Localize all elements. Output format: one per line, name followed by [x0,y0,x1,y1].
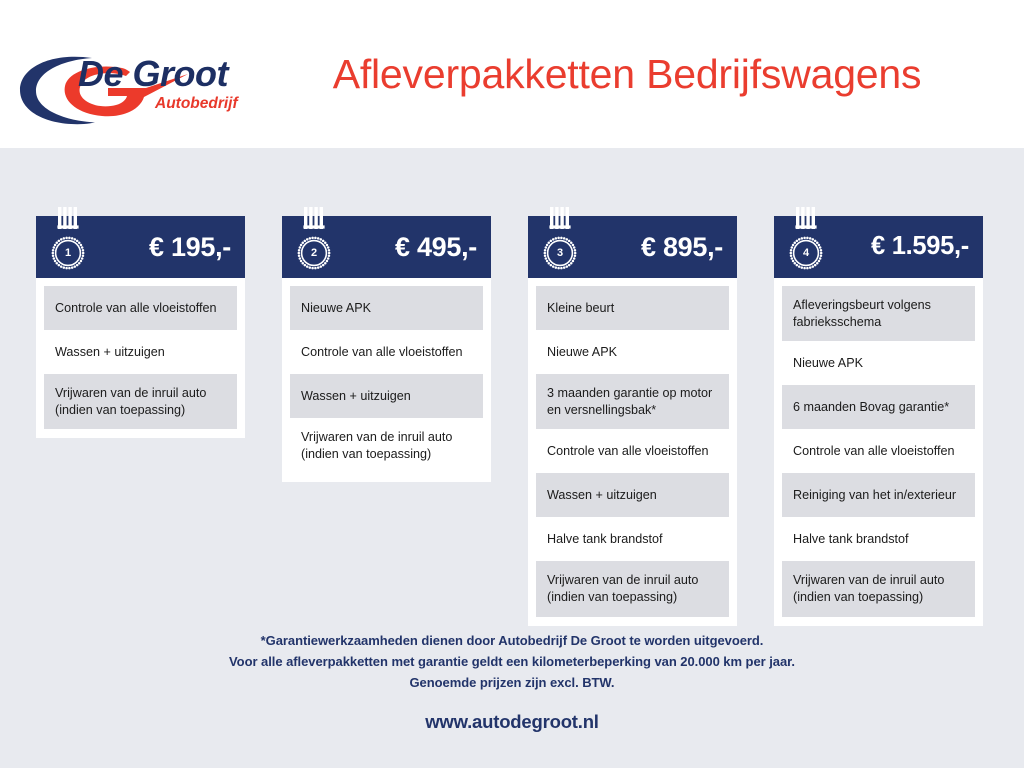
package-item: Wassen + uitzuigen [290,374,483,418]
footer-line: *Garantiewerkzaamheden dienen door Autob… [0,630,1024,651]
header-band: De Groot Autobedrijf Afleverpakketten Be… [0,0,1024,148]
package-item: Wassen + uitzuigen [44,330,237,374]
package-card-4: 4€ 1.595,-Afleveringsbeurt volgens fabri… [774,207,983,626]
package-item: Vrijwaren van de inruil auto (indien van… [290,418,483,473]
package-header: 4€ 1.595,- [774,216,983,278]
package-header: 3€ 895,- [528,216,737,278]
package-price: € 895,- [641,234,723,261]
package-item: Afleveringsbeurt volgens fabrieksschema [782,286,975,341]
package-item: 6 maanden Bovag garantie* [782,385,975,429]
poster-page: De Groot Autobedrijf Afleverpakketten Be… [0,0,1024,768]
package-item-list: Kleine beurtNieuwe APK3 maanden garantie… [528,278,737,626]
package-item: Nieuwe APK [536,330,729,374]
package-item: Reiniging van het in/exterieur [782,473,975,517]
footer-line: Voor alle afleverpakketten met garantie … [0,651,1024,672]
package-item: 3 maanden garantie op motor en versnelli… [536,374,729,429]
package-cards: 1€ 195,-Controle van alle vloeistoffenWa… [36,207,988,626]
company-logo: De Groot Autobedrijf [10,14,260,134]
package-item: Controle van alle vloeistoffen [44,286,237,330]
package-item: Kleine beurt [536,286,729,330]
package-price: € 1.595,- [871,234,969,260]
package-item: Controle van alle vloeistoffen [536,429,729,473]
package-item: Nieuwe APK [782,341,975,385]
package-item: Halve tank brandstof [536,517,729,561]
package-item: Nieuwe APK [290,286,483,330]
package-header: 1€ 195,- [36,216,245,278]
medal-icon: 3 [540,207,580,273]
logo-wordmark: De Groot [78,56,228,92]
package-item: Controle van alle vloeistoffen [782,429,975,473]
footer-line: Genoemde prijzen zijn excl. BTW. [0,672,1024,693]
package-item: Vrijwaren van de inruil auto (indien van… [782,561,975,616]
package-card-3: 3€ 895,-Kleine beurtNieuwe APK3 maanden … [528,207,737,626]
package-item: Vrijwaren van de inruil auto (indien van… [536,561,729,616]
package-item: Controle van alle vloeistoffen [290,330,483,374]
page-title: Afleverpakketten Bedrijfswagens [260,51,1024,98]
footer-disclaimer: *Garantiewerkzaamheden dienen door Autob… [0,630,1024,693]
medal-icon: 1 [48,207,88,273]
package-header: 2€ 495,- [282,216,491,278]
package-card-2: 2€ 495,-Nieuwe APKControle van alle vloe… [282,207,491,482]
package-item: Wassen + uitzuigen [536,473,729,517]
logo-subtitle: Autobedrijf [155,96,238,112]
footer: *Garantiewerkzaamheden dienen door Autob… [0,630,1024,733]
package-price: € 495,- [395,234,477,261]
medal-icon: 4 [786,207,826,273]
package-item: Vrijwaren van de inruil auto (indien van… [44,374,237,429]
package-item-list: Controle van alle vloeistoffenWassen + u… [36,278,245,438]
package-item: Halve tank brandstof [782,517,975,561]
package-item-list: Afleveringsbeurt volgens fabrieksschemaN… [774,278,983,626]
website-url[interactable]: www.autodegroot.nl [0,711,1024,733]
medal-icon: 2 [294,207,334,273]
package-price: € 195,- [149,234,231,261]
package-item-list: Nieuwe APKControle van alle vloeistoffen… [282,278,491,482]
package-card-1: 1€ 195,-Controle van alle vloeistoffenWa… [36,207,245,438]
